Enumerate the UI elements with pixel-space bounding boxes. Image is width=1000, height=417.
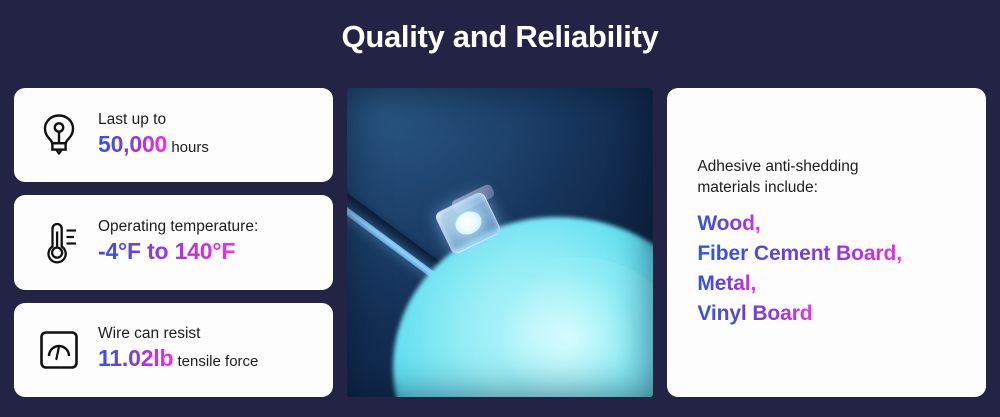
material-item: Wood,	[697, 209, 760, 239]
feature-label: Operating temperature:	[98, 217, 258, 237]
page-title: Quality and Reliability	[0, 0, 1000, 68]
feature-value-row: -4°F to 140°F	[98, 238, 258, 268]
light-bulb-icon	[36, 111, 82, 159]
materials-panel: Adhesive anti-shedding materials include…	[667, 88, 986, 397]
material-item: Metal,	[697, 269, 756, 299]
feature-highlight: 11.02lb	[98, 345, 173, 371]
feature-label: Last up to	[98, 110, 209, 130]
material-item: Vinyl Board	[697, 299, 812, 329]
feature-card-temperature: Operating temperature: -4°F to 140°F	[14, 195, 333, 289]
feature-text-tensile: Wire can resist 11.02lb tensile force	[98, 324, 258, 375]
feature-value-row: 50,000 hours	[98, 131, 209, 161]
feature-text-temperature: Operating temperature: -4°F to 140°F	[98, 217, 258, 268]
product-photo	[347, 88, 654, 397]
materials-list: Wood, Fiber Cement Board, Metal, Vinyl B…	[697, 209, 986, 329]
feature-highlight: 50,000	[98, 131, 167, 157]
gauge-meter-icon	[36, 326, 82, 374]
feature-card-lifespan: Last up to 50,000 hours	[14, 88, 333, 182]
feature-suffix: tensile force	[173, 353, 258, 370]
feature-value-row: 11.02lb tensile force	[98, 345, 258, 375]
thermometer-icon	[36, 218, 82, 266]
feature-label: Wire can resist	[98, 324, 258, 344]
feature-card-tensile: Wire can resist 11.02lb tensile force	[14, 303, 333, 397]
feature-text-lifespan: Last up to 50,000 hours	[98, 110, 209, 161]
content-layout: Last up to 50,000 hours Operating temper…	[14, 88, 986, 397]
feature-card-list: Last up to 50,000 hours Operating temper…	[14, 88, 333, 397]
materials-heading: Adhesive anti-shedding materials include…	[697, 156, 907, 198]
feature-highlight: -4°F to 140°F	[98, 238, 235, 264]
material-item: Fiber Cement Board,	[697, 239, 902, 269]
photo-vignette	[347, 88, 654, 397]
feature-suffix: hours	[167, 139, 209, 156]
